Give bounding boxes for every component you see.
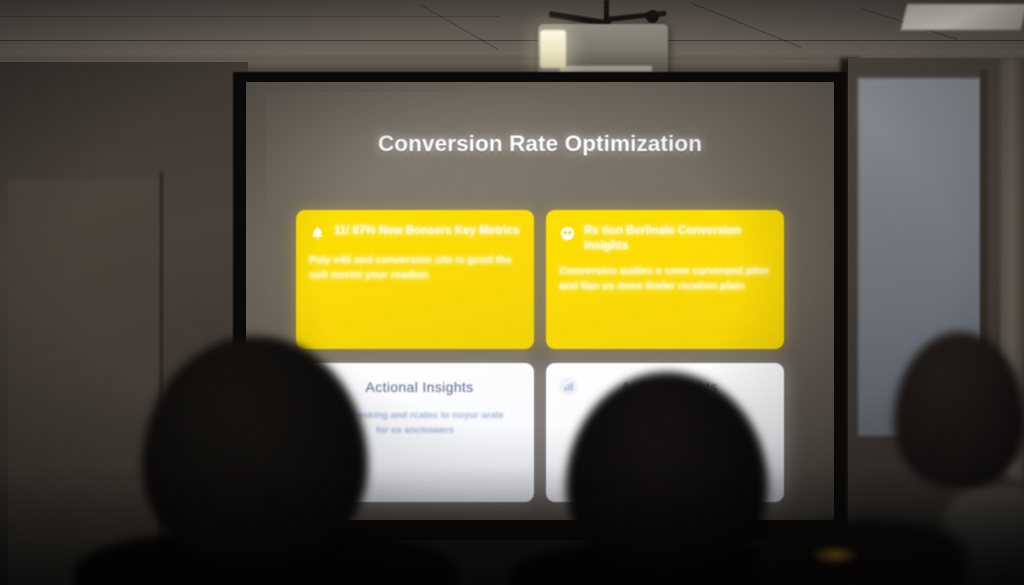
card-header: 11/ 87% New Bonsers Key Metrics (309, 224, 521, 242)
card-header: Rs tion Berlinale Conversion Insights (559, 224, 771, 253)
chart-icon (559, 377, 578, 396)
conference-room-scene: Conversion Rate Optimization 11/ 87% New… (0, 0, 1024, 585)
wall-panel-left (8, 180, 158, 585)
ceiling-light-fixture (901, 4, 1024, 30)
slide-card-metrics: 11/ 87% New Bonsers Key Metrics Paly e45… (296, 210, 534, 349)
card-body-text: Paly e45 and conversion site is good the… (309, 253, 521, 283)
card-title: Actional Insights (337, 379, 502, 395)
projector-mount-knob (646, 10, 659, 23)
audience-foreground-arm (756, 520, 966, 585)
amber-device-glow (812, 546, 858, 564)
bell-icon (309, 225, 326, 242)
card-title: Rs tion Berlinale Conversion Insights (584, 224, 771, 253)
card-title: 11/ 87% New Bonsers Key Metrics (334, 224, 519, 239)
analytics-circle-icon (559, 225, 576, 242)
slide-card-conversion-insights: Rs tion Berlinale Conversion Insights Co… (546, 210, 784, 349)
projector-lens-icon (540, 30, 566, 68)
slide-title: Conversion Rate Optimization (246, 131, 834, 157)
card-body-text: Conversion audies e soon carverand pitor… (559, 264, 771, 294)
